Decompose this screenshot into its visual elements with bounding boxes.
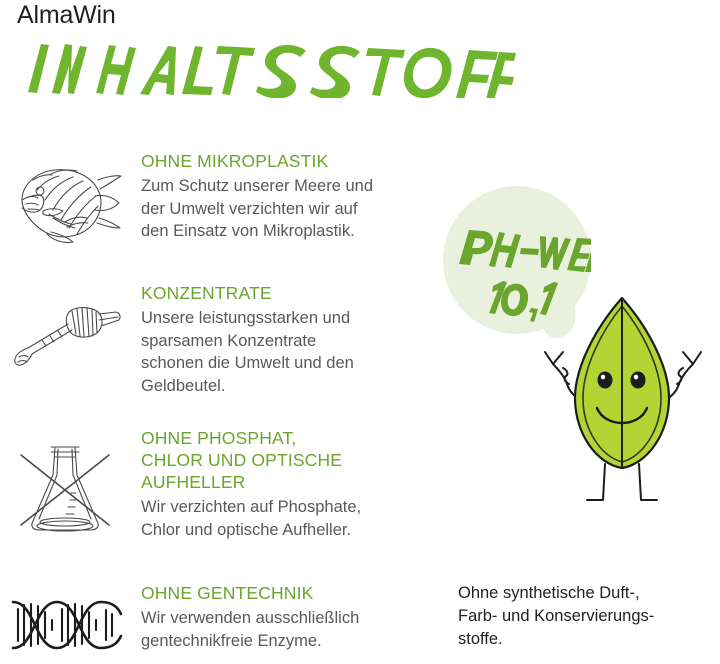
feature-body: Zum Schutz unserer Meere und der Umwelt …: [141, 175, 411, 243]
feature-body: Unsere leistungsstarken und sparsamen Ko…: [141, 307, 411, 397]
dna-icon: [0, 594, 130, 656]
leaf-eye-right: [631, 372, 646, 389]
feature-item: OHNE GENTECHNIK Wir verwenden ausschließ…: [0, 582, 430, 664]
leaf-character-icon: [525, 292, 720, 522]
feature-item: KONZENTRATE Unsere leistungsstarken und …: [0, 282, 430, 427]
feature-text-block: KONZENTRATE Unsere leistungsstarken und …: [141, 282, 411, 397]
page-title: [16, 36, 516, 98]
footer-note: Ohne synthetische Duft-, Farb- und Konse…: [458, 582, 713, 651]
ingredients-infographic: AlmaWin: [0, 0, 720, 662]
feature-list: OHNE MIKROPLASTIK Zum Schutz unserer Mee…: [0, 150, 430, 664]
fish-icon: [0, 156, 130, 246]
feature-heading: KONZENTRATE: [141, 282, 411, 304]
pipette-icon: [0, 302, 130, 370]
feature-heading: OHNE PHOSPHAT, CHLOR UND OPTISCHE AUFHEL…: [141, 427, 411, 493]
feature-text-block: OHNE MIKROPLASTIK Zum Schutz unserer Mee…: [141, 150, 411, 243]
feature-item: OHNE PHOSPHAT, CHLOR UND OPTISCHE AUFHEL…: [0, 427, 430, 582]
brand-logo: AlmaWin: [17, 1, 116, 30]
leaf-eye-left: [598, 372, 613, 389]
feature-heading: OHNE GENTECHNIK: [141, 582, 411, 604]
feature-body: Wir verzichten auf Phosphate, Chlor und …: [141, 496, 411, 541]
feature-text-block: OHNE PHOSPHAT, CHLOR UND OPTISCHE AUFHEL…: [141, 427, 411, 541]
feature-body: Wir verwenden ausschließlich gentechnikf…: [141, 607, 411, 652]
feature-heading: OHNE MIKROPLASTIK: [141, 150, 411, 172]
feature-text-block: OHNE GENTECHNIK Wir verwenden ausschließ…: [141, 582, 411, 652]
flask-crossed-out-icon: [0, 437, 130, 537]
feature-item: OHNE MIKROPLASTIK Zum Schutz unserer Mee…: [0, 150, 430, 282]
